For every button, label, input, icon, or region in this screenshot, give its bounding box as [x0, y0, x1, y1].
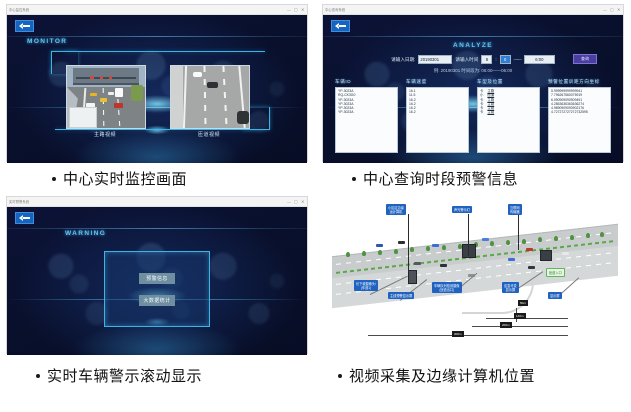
- caption-text: 中心查询时段预警信息: [363, 168, 518, 189]
- header-divider: [323, 36, 623, 37]
- analyze-window-title: 中心查询系统: [325, 7, 345, 12]
- panel-deployment: 小区区边缘 运计算机 声光警示灯 互联网 传输器 长下坡摄像头/ (车道1) 主…: [322, 196, 624, 354]
- monitor-window-title: 中心监控系统: [9, 7, 29, 12]
- panel-analyze: 中心查询系统 —▢✕ ANALYZE 请输入日期: 20190301 请输入时间: [322, 4, 624, 162]
- dimension-50m: 50m: [518, 300, 528, 306]
- tree-icon: [378, 250, 382, 255]
- back-arrow-icon[interactable]: [15, 212, 34, 224]
- query-row-hint: 例: 20190301 时间段为: 06:00——06:00: [323, 68, 623, 74]
- vehicle-icon: [526, 248, 533, 251]
- tree-icon: [600, 232, 604, 237]
- bullet-icon: [338, 374, 342, 378]
- dimension-line: [472, 326, 568, 327]
- tree-icon: [442, 245, 446, 250]
- vehicle-icon: [398, 241, 405, 244]
- label-downhill-camera: 长下坡摄像头/ (车道1): [354, 280, 378, 291]
- cell: YP-3023A: [338, 110, 395, 114]
- tree-icon: [426, 246, 430, 251]
- tree-icon: [490, 241, 494, 246]
- analyze-stage: ANALYZE 请输入日期: 20190301 请输入时间 8 : 0 —— 6…: [323, 15, 623, 163]
- cell: 16.2: [409, 110, 466, 114]
- window-controls[interactable]: —▢✕: [603, 8, 621, 12]
- time-colon: :: [495, 57, 496, 62]
- header-divider: [7, 228, 307, 229]
- cell: 4.727272727272732595: [551, 110, 608, 114]
- dimension-200m: 200m: [500, 322, 512, 328]
- label-transmitter: 互联网 传输器: [508, 204, 522, 215]
- column-body[interactable]: 16.1 11.5 16.2 16.2 16.2 16.2: [406, 87, 469, 153]
- caption-text: 视频采集及边缘计算机位置: [349, 365, 535, 386]
- video-card[interactable]: 主路视频: [66, 65, 144, 138]
- column-header: 车辆ID: [335, 79, 398, 85]
- warning-info-button[interactable]: 预警信息: [139, 273, 175, 284]
- tree-icon: [346, 252, 350, 257]
- table-column-type-position: 车型及位置 卡主路 小匝道 卡主路 卡主路 卡主路 卡主路: [477, 79, 540, 153]
- result-table: 车辆ID YP-3023A RQ-CK3G0 YP-3023A YP-3023A…: [335, 79, 611, 153]
- vehicle-icon: [376, 244, 383, 247]
- table-column-speed: 车辆速度 16.1 11.5 16.2 16.2 16.2 16.2: [406, 79, 469, 153]
- pole: [468, 214, 469, 256]
- warning-dialog: 预警信息 大数据统计: [104, 251, 210, 327]
- warning-window-title: 实时预警系统: [9, 199, 29, 204]
- window-controls[interactable]: —▢✕: [287, 200, 305, 204]
- end-time-input[interactable]: 6:00: [524, 55, 555, 64]
- analyze-titlebar: 中心查询系统 —▢✕: [323, 5, 623, 15]
- video-grid: 主路视频: [7, 65, 307, 138]
- vehicle-icon: [414, 262, 421, 265]
- back-arrow-icon[interactable]: [15, 20, 34, 32]
- window-controls[interactable]: —▢✕: [287, 8, 305, 12]
- dimension-line: [368, 335, 568, 336]
- label-emergency-display: 应急可变 显示屏: [502, 282, 519, 293]
- label-display-screen: 显示屏: [548, 292, 562, 299]
- column-header: 车辆速度: [406, 79, 469, 85]
- slide-page: 中心监控系统 —▢✕ MONITOR: [0, 0, 631, 412]
- vehicle-icon: [562, 252, 569, 255]
- tree-icon: [570, 235, 574, 240]
- screen-title-monitor: MONITOR: [27, 38, 67, 45]
- tree-icon: [410, 247, 414, 252]
- video-thumbnail-main-road[interactable]: [66, 65, 146, 129]
- dimension-line: [486, 318, 568, 319]
- warning-stage: WARNING 预警信息 大数据统计: [7, 207, 307, 355]
- range-dash: ——: [514, 57, 521, 62]
- tree-icon: [522, 239, 526, 244]
- bullet-icon: [352, 177, 356, 181]
- vehicle-icon: [432, 244, 439, 247]
- table-column-warning-coordinate: 预警位置训距方向坐标 5.999999999999941 7.796267560…: [548, 79, 611, 153]
- bullet-icon: [52, 177, 56, 181]
- label-mainline-display: 主线预警显示屏: [388, 292, 414, 299]
- date-input[interactable]: 20190301: [418, 55, 452, 64]
- header-divider: [7, 36, 307, 37]
- pole: [408, 214, 409, 272]
- video-thumbnail-ramp[interactable]: [170, 65, 250, 129]
- monitor-titlebar: 中心监控系统 —▢✕: [7, 5, 307, 15]
- vehicle-icon: [528, 266, 535, 269]
- table-column-vehicle-id: 车辆ID YP-3023A RQ-CK3G0 YP-3023A YP-3023A…: [335, 79, 398, 153]
- label-alarm-light: 声光警示灯: [452, 206, 472, 213]
- label-queue-camera: 车辆队列检测摄像 (匝道出口): [432, 282, 462, 293]
- back-arrow-icon[interactable]: [331, 20, 350, 32]
- frame-top-line: [65, 51, 265, 52]
- monitor-window: 中心监控系统 —▢✕ MONITOR: [6, 4, 308, 162]
- dimension-140m: 140m: [514, 313, 526, 319]
- warning-titlebar: 实时预警系统 —▢✕: [7, 197, 307, 207]
- query-button[interactable]: 查询: [573, 54, 597, 64]
- screen-title-analyze: ANALYZE: [453, 42, 493, 49]
- column-body[interactable]: 卡主路 小匝道 卡主路 卡主路 卡主路 卡主路: [477, 87, 540, 153]
- label-ramp-entrance: 匝道入口: [546, 268, 565, 277]
- vehicle-icon: [440, 264, 447, 267]
- bullet-icon: [36, 374, 40, 378]
- panel-warning: 实时预警系统 —▢✕ WARNING 预警信息 大数据统计: [6, 196, 308, 354]
- caption-monitor: 中心实时监控画面: [52, 168, 187, 189]
- time-label: 请输入时间: [455, 57, 478, 63]
- form-hint: 例: 20190301 时间段为: 06:00——06:00: [434, 68, 512, 74]
- column-header: 车型及位置: [477, 79, 540, 85]
- vehicle-icon: [508, 258, 515, 261]
- caption-deployment: 视频采集及边缘计算机位置: [338, 365, 535, 386]
- tree-icon: [394, 249, 398, 254]
- deployment-diagram: 小区区边缘 运计算机 声光警示灯 互联网 传输器 长下坡摄像头/ (车道1) 主…: [322, 196, 624, 354]
- column-header: 预警位置训距方向坐标: [548, 79, 611, 85]
- pole: [518, 214, 519, 250]
- dimension-300m: 300m: [452, 331, 464, 337]
- caption-analyze: 中心查询时段预警信息: [352, 168, 518, 189]
- monitor-stage: MONITOR: [7, 15, 307, 163]
- panel-monitor: 中心监控系统 —▢✕ MONITOR: [6, 4, 308, 162]
- hour-input[interactable]: 8: [481, 55, 492, 64]
- variable-message-sign: [540, 250, 552, 261]
- caption-warning: 实时车辆警示滚动显示: [36, 365, 202, 386]
- video-label: 匝道视频: [170, 131, 248, 138]
- cell: 卡主路: [480, 110, 537, 114]
- tree-icon: [554, 236, 558, 241]
- caption-text: 实时车辆警示滚动显示: [47, 365, 202, 386]
- tree-icon: [538, 237, 542, 242]
- ramp-curve: [462, 282, 534, 314]
- column-body[interactable]: 5.999999999999941 7.796267560075919 6.09…: [548, 87, 611, 153]
- bigdata-stats-button[interactable]: 大数据统计: [139, 295, 175, 306]
- warning-window: 实时预警系统 —▢✕ WARNING 预警信息 大数据统计: [6, 196, 308, 354]
- screen-title-warning: WARNING: [65, 230, 106, 237]
- minute-input[interactable]: 0: [500, 55, 511, 64]
- vehicle-icon: [482, 238, 489, 241]
- column-body[interactable]: YP-3023A RQ-CK3G0 YP-3023A YP-3023A YP-3…: [335, 87, 398, 153]
- video-label: 主路视频: [66, 131, 144, 138]
- date-label: 请输入日期:: [391, 57, 415, 63]
- query-form: 请输入日期: 20190301 请输入时间 8 : 0 —— 6:00 例: 2…: [323, 55, 623, 74]
- caption-text: 中心实时监控画面: [63, 168, 187, 189]
- tree-icon: [506, 240, 510, 245]
- video-card[interactable]: 匝道视频: [170, 65, 248, 138]
- label-edge-computer: 小区区边缘 运计算机: [386, 204, 406, 215]
- edge-computer-cabinet: [408, 270, 417, 284]
- warning-display-screen: [462, 244, 476, 258]
- analyze-window: 中心查询系统 —▢✕ ANALYZE 请输入日期: 20190301 请输入时间: [322, 4, 624, 162]
- tree-icon: [586, 233, 590, 238]
- tree-icon: [362, 251, 366, 256]
